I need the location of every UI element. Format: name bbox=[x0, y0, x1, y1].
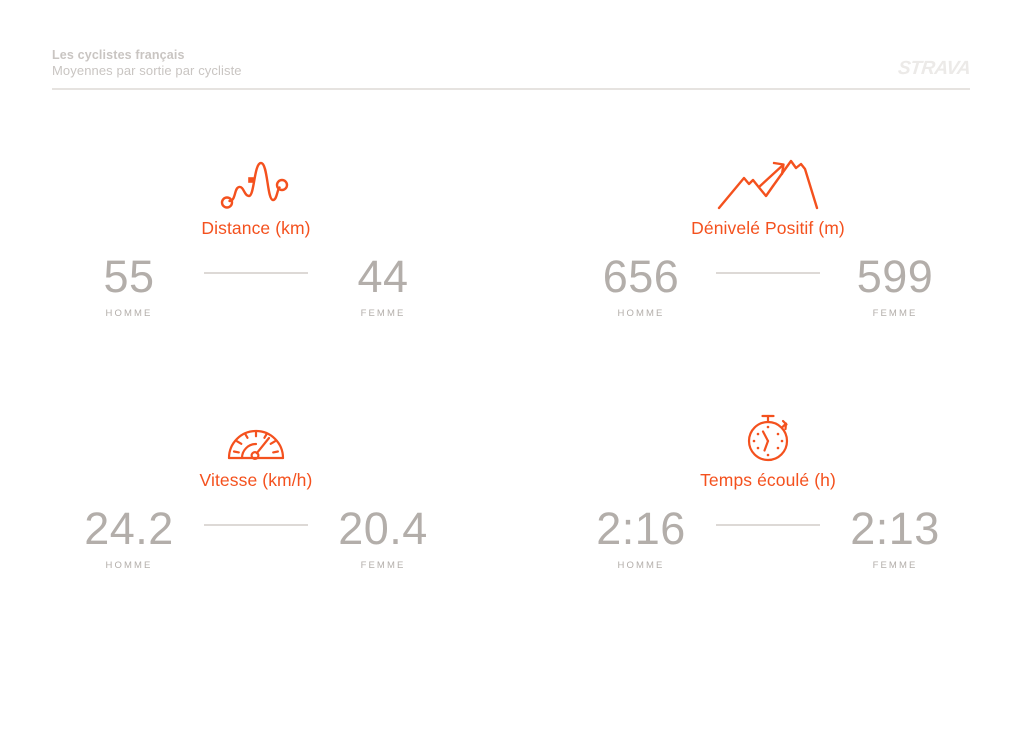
strava-logo: STRAVA bbox=[897, 58, 972, 80]
female-value: 44 bbox=[308, 253, 458, 301]
value-connector bbox=[204, 272, 308, 274]
metric-values: 24.2 HOMME 20.4 FEMME bbox=[46, 505, 466, 571]
female-value: 20.4 bbox=[308, 505, 458, 553]
header-titles: Les cyclistes français Moyennes par sort… bbox=[52, 48, 242, 79]
header-divider bbox=[52, 88, 970, 90]
metric-values: 2:16 HOMME 2:13 FEMME bbox=[558, 505, 978, 571]
female-value-group: 44 FEMME bbox=[308, 253, 458, 319]
male-label: HOMME bbox=[54, 308, 204, 319]
metric-panel-speed: Vitesse (km/h) 24.2 HOMME 20.4 FEMME bbox=[0, 402, 512, 654]
header: Les cyclistes français Moyennes par sort… bbox=[52, 48, 970, 90]
male-label: HOMME bbox=[566, 308, 716, 319]
stopwatch-icon bbox=[558, 402, 978, 464]
value-connector bbox=[716, 272, 820, 274]
female-value-group: 2:13 FEMME bbox=[820, 505, 970, 571]
female-value: 599 bbox=[820, 253, 970, 301]
female-value-group: 599 FEMME bbox=[820, 253, 970, 319]
male-value-group: 55 HOMME bbox=[54, 253, 204, 319]
metric-title: Distance (km) bbox=[46, 218, 466, 239]
page-subtitle: Moyennes par sortie par cycliste bbox=[52, 63, 242, 79]
male-value: 24.2 bbox=[54, 505, 204, 553]
metrics-grid: Distance (km) 55 HOMME 44 FEMME bbox=[0, 150, 1024, 650]
metric-panel-elevation: Dénivelé Positif (m) 656 HOMME 599 FEMME bbox=[512, 150, 1024, 402]
female-label: FEMME bbox=[820, 308, 970, 319]
metric-panel-distance: Distance (km) 55 HOMME 44 FEMME bbox=[0, 150, 512, 402]
page-title: Les cyclistes français bbox=[52, 48, 242, 63]
female-label: FEMME bbox=[308, 560, 458, 571]
metric-panel-elapsed-time: Temps écoulé (h) 2:16 HOMME 2:13 FEMME bbox=[512, 402, 1024, 654]
female-value: 2:13 bbox=[820, 505, 970, 553]
metric-values: 55 HOMME 44 FEMME bbox=[46, 253, 466, 319]
metric-values: 656 HOMME 599 FEMME bbox=[558, 253, 978, 319]
metric-title: Vitesse (km/h) bbox=[46, 470, 466, 491]
female-value-group: 20.4 FEMME bbox=[308, 505, 458, 571]
male-value-group: 2:16 HOMME bbox=[566, 505, 716, 571]
male-label: HOMME bbox=[566, 560, 716, 571]
female-label: FEMME bbox=[308, 308, 458, 319]
value-connector bbox=[716, 524, 820, 526]
male-value-group: 656 HOMME bbox=[566, 253, 716, 319]
male-value-group: 24.2 HOMME bbox=[54, 505, 204, 571]
value-connector bbox=[204, 524, 308, 526]
male-value: 2:16 bbox=[566, 505, 716, 553]
route-icon bbox=[46, 150, 466, 212]
speedometer-icon bbox=[46, 402, 466, 464]
male-value: 656 bbox=[566, 253, 716, 301]
metric-title: Dénivelé Positif (m) bbox=[558, 218, 978, 239]
female-label: FEMME bbox=[820, 560, 970, 571]
mountains-icon bbox=[558, 150, 978, 212]
metric-title: Temps écoulé (h) bbox=[558, 470, 978, 491]
male-value: 55 bbox=[54, 253, 204, 301]
male-label: HOMME bbox=[54, 560, 204, 571]
